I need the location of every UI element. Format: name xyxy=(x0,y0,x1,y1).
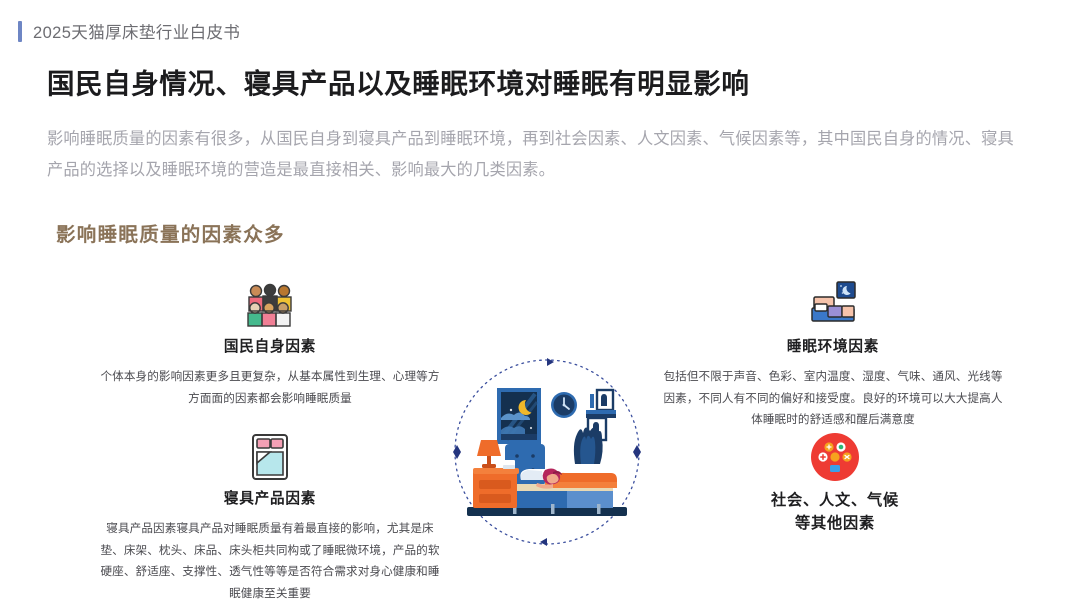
card-body: 包括但不限于声音、色彩、室内温度、湿度、气味、通风、光线等因素，不同人有不同的偏… xyxy=(659,366,1007,431)
card-title: 国民自身因素 xyxy=(96,337,444,357)
bed-topview-icon xyxy=(96,424,444,482)
accent-bar xyxy=(18,21,22,42)
factor-card-bedding: 寝具产品因素 寝具产品因素寝具产品对睡眠质量有着最直接的影响，尤其是床垫、床架、… xyxy=(96,424,444,604)
red-circle-social-icon xyxy=(740,424,930,482)
card-body: 寝具产品因素寝具产品对睡眠质量有着最直接的影响，尤其是床垫、床架、枕头、床品、床… xyxy=(96,518,444,604)
page-subtitle: 影响睡眠质量的因素有很多，从国民自身到寝具产品到睡眠环境，再到社会因素、人文因素… xyxy=(47,124,1029,186)
card-title-line2: 等其他因素 xyxy=(740,512,930,535)
breadcrumb: 2025天猫厚床垫行业白皮书 xyxy=(18,19,240,43)
slide-root: 2025天猫厚床垫行业白皮书 国民自身情况、寝具产品以及睡眠环境对睡眠有明显影响… xyxy=(0,0,1080,608)
section-heading: 影响睡眠质量的因素众多 xyxy=(56,218,285,247)
card-title: 睡眠环境因素 xyxy=(659,337,1007,357)
card-title: 寝具产品因素 xyxy=(96,489,444,509)
factor-card-national: 国民自身因素 个体本身的影响因素更多且更复杂，从基本属性到生理、心理等方方面面的… xyxy=(96,272,444,409)
card-body: 个体本身的影响因素更多且更复杂，从基本属性到生理、心理等方方面面的因素都会影响睡… xyxy=(96,366,444,409)
factor-card-social: 社会、人文、气候 等其他因素 xyxy=(740,424,930,535)
kicker-label: 2025天猫厚床垫行业白皮书 xyxy=(33,19,240,43)
bedroom-sleep-illustration xyxy=(447,352,647,560)
group-of-people-icon xyxy=(96,272,444,330)
bedroom-night-icon xyxy=(659,272,1007,330)
card-title-line1: 社会、人文、气候 xyxy=(740,489,930,512)
factor-card-environment: 睡眠环境因素 包括但不限于声音、色彩、室内温度、湿度、气味、通风、光线等因素，不… xyxy=(659,272,1007,431)
page-title: 国民自身情况、寝具产品以及睡眠环境对睡眠有明显影响 xyxy=(47,61,750,101)
